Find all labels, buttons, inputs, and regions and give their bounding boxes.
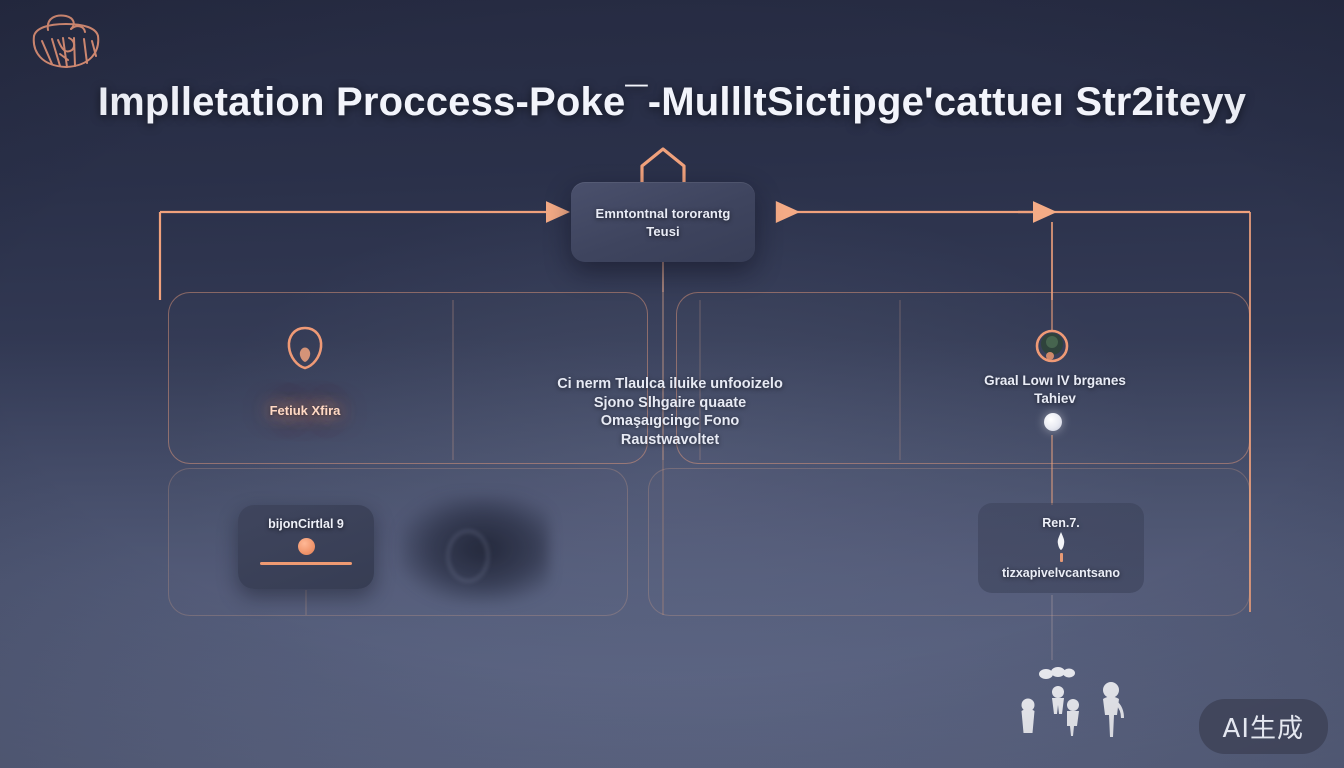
diagram-canvas: Implletation Proccess-Poke¯-MullltSictip… — [0, 0, 1344, 768]
right-block-line2: Tahiev — [930, 390, 1180, 408]
central-node-line2: Teusi — [646, 224, 680, 239]
page-title: Implletation Proccess-Poke¯-MullltSictip… — [0, 80, 1344, 125]
circle-loop-icon — [283, 322, 327, 374]
card-bottom-right[interactable]: Ren.7. tizxapivelvcantsano — [978, 503, 1144, 593]
decorative-blur-ring — [447, 530, 489, 582]
central-node-line1: Emntontnal tororantg — [596, 206, 731, 221]
card-left-label: bijonCirtlal 9 — [268, 517, 344, 531]
left-block-label: Fetiuk Xfira — [235, 403, 375, 418]
tick-marker — [1060, 553, 1063, 562]
center-text-line: Omaşaıgcingc Fono — [520, 412, 820, 431]
right-block-text: Graal Lowı lV brganes Tahiev — [930, 372, 1180, 408]
circle-orb-icon — [1030, 325, 1074, 369]
center-text-line: Sjono Slhgaire quaate — [520, 394, 820, 413]
panel-lower-left — [168, 468, 628, 616]
card-bottom-left[interactable]: bijonCirtlal 9 — [238, 505, 374, 589]
central-node[interactable]: Emntontnal tororantg Teusi — [571, 182, 755, 262]
right-block-line1: Graal Lowı lV brganes — [930, 372, 1180, 390]
flame-icon — [1056, 532, 1066, 550]
card-right-label: Ren.7. — [1042, 516, 1080, 530]
white-node-dot — [1044, 413, 1062, 431]
panel-lower-right — [648, 468, 1250, 616]
orange-underline — [260, 562, 352, 565]
center-text-line: Raustwavoltet — [520, 431, 820, 450]
center-text-line: Ci nerm Tlaulca iluike unfooizelo — [520, 375, 820, 394]
orange-dot-icon — [298, 538, 315, 555]
center-text-block: Ci nerm Tlaulca iluike unfooizelo Sjono … — [520, 375, 820, 449]
people-pictograms — [1008, 660, 1138, 740]
ai-watermark-badge: AI生成 — [1199, 699, 1328, 754]
basket-line-art-logo — [22, 10, 110, 72]
card-right-label2: tizxapivelvcantsano — [1002, 566, 1120, 580]
